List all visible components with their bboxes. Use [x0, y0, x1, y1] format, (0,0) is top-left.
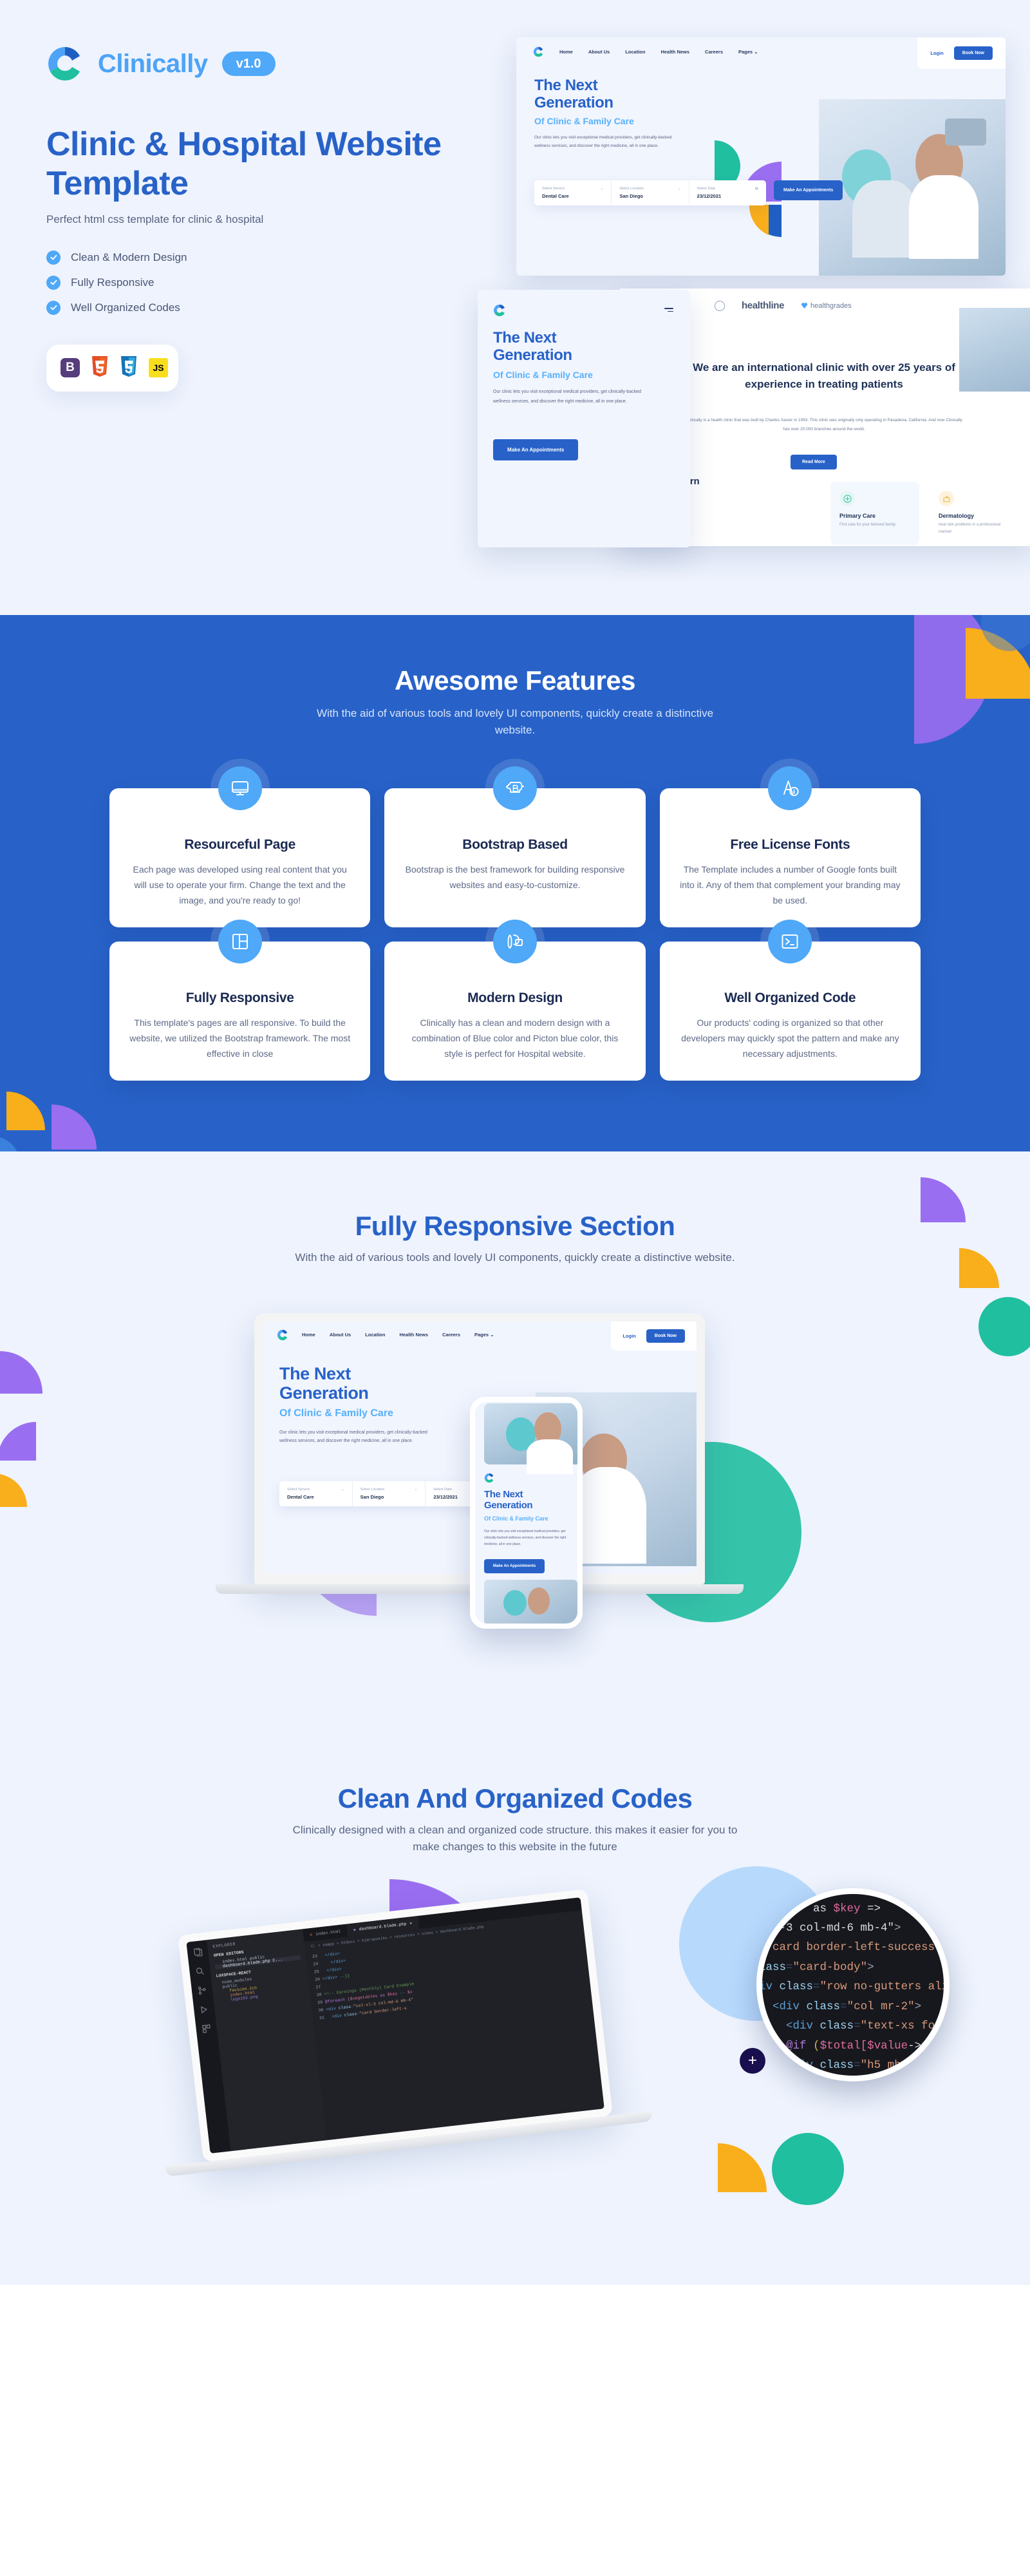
feature-card-free-license-fonts[interactable]: Free License Fonts The Template includes…	[660, 788, 921, 927]
chevron-down-icon: ⌄	[490, 1332, 494, 1338]
features-grid: Resourceful Page Each page was developed…	[109, 788, 921, 1081]
mockup-appointment-form: Select Service⌄ Dental Care Select Locat…	[279, 1481, 498, 1506]
feature-card-title: Modern Design	[402, 990, 627, 1006]
responsive-title: Fully Responsive Section	[0, 1211, 1030, 1242]
feature-card-text: The Template includes a number of Google…	[678, 862, 903, 908]
mockup-select-location[interactable]: Select Location⌄ San Diego	[353, 1481, 426, 1506]
mockup-intl-paragraph: Clinically is a health clinic that was b…	[682, 416, 966, 433]
mockup-paragraph: Our clinic lets you visit exceptional me…	[279, 1428, 440, 1446]
check-icon	[46, 251, 61, 265]
bootstrap-badge-icon: B	[61, 358, 80, 377]
code-subtitle: Clinically designed with a clean and org…	[290, 1822, 740, 1856]
code-title: Clean And Organized Codes	[0, 1783, 1030, 1814]
mockup-nav-pages[interactable]: Pages ⌄	[474, 1332, 494, 1338]
mockup-select-date[interactable]: Select Date▤ 23/12/2021	[689, 180, 766, 205]
mockup-nav-location[interactable]: Location	[625, 49, 645, 55]
mockup-service-card-primary-care[interactable]: Primary Care First care for your beloved…	[830, 482, 919, 545]
hero-section: Clinically v1.0 Clinic & Hospital Websit…	[0, 0, 1030, 615]
decorative-shapes-hero	[0, 451, 116, 605]
brand-name: Clinically	[98, 50, 208, 79]
mockup-appointment-form: Select Service⌄ Dental Care Select Locat…	[534, 180, 766, 205]
hero-mockup-group: Home About Us Location Health News Caree…	[502, 0, 1030, 615]
feature-card-title: Bootstrap Based	[402, 837, 627, 853]
vscode-editor: ◇index.html ◆dashboard.blade.php✕ C: > x…	[303, 1897, 604, 2140]
feature-card-modern-design[interactable]: Modern Design Clinically has a clean and…	[384, 942, 645, 1081]
feature-card-text: Clinically has a clean and modern design…	[402, 1015, 627, 1061]
list-item-label: Well Organized Codes	[71, 301, 180, 314]
calendar-icon: ▤	[755, 187, 758, 191]
feature-card-title: Resourceful Page	[127, 837, 352, 853]
monitor-icon	[218, 766, 262, 810]
mockup-make-appointment-button[interactable]: Make An Appointments	[484, 1559, 545, 1573]
features-title: Awesome Features	[0, 665, 1030, 696]
mockup-book-now-button[interactable]: Book Now	[954, 46, 993, 60]
mockup-heading: The NextGeneration	[279, 1364, 369, 1403]
mockup-nav-about-us[interactable]: About Us	[588, 49, 610, 55]
healthgrades-logo: healthgrades	[801, 302, 852, 310]
list-item: Well Organized Codes	[46, 301, 510, 315]
mockup-intl-heading: We are an international clinic with over…	[663, 359, 985, 392]
list-item: Clean & Modern Design	[46, 251, 510, 265]
chevron-down-icon: ⌄	[415, 1488, 418, 1492]
mockup-subheading: Of Clinic & Family Care	[534, 116, 634, 126]
feature-card-resourceful-page[interactable]: Resourceful Page Each page was developed…	[109, 788, 370, 927]
laptop-mockup-nav-actions: Login Book Now	[611, 1321, 697, 1350]
mockup-make-appointment-button[interactable]: Make An Appointments	[493, 439, 578, 460]
feature-check-list: Clean & Modern Design Fully Responsive W…	[46, 251, 510, 315]
feature-card-fully-responsive[interactable]: Fully Responsive This template's pages a…	[109, 942, 370, 1081]
mockup-subheading: Of Clinic & Family Care	[484, 1515, 548, 1522]
mockup-make-appointment-button[interactable]: Make An Appointments	[774, 180, 843, 200]
vscode-window: EXPLORER OPEN EDITORS index.html public …	[186, 1897, 604, 2154]
page-title: Clinic & Hospital Website Template	[46, 125, 510, 204]
mockup-select-service[interactable]: Select Service⌄ Dental Care	[279, 1481, 353, 1506]
decorative-shapes-responsive-left	[0, 1345, 142, 1577]
feature-card-text: This template's pages are all responsive…	[127, 1015, 352, 1061]
chevron-down-icon: ⌄	[678, 187, 681, 191]
page-subtitle: Perfect html css template for clinic & h…	[46, 213, 510, 226]
files-icon[interactable]	[192, 1947, 202, 1956]
decorative-shapes-responsive-right	[882, 1177, 1030, 1370]
chevron-down-icon: ⌄	[601, 187, 604, 191]
chevron-down-icon: ⌄	[754, 49, 758, 55]
mockup-about-photo	[959, 308, 1030, 392]
html-file-icon: ◇	[310, 1931, 313, 1937]
magnified-code: as $key => l-3 col-md-6 mb-4"> ="card bo…	[756, 1899, 950, 2081]
feature-card-title: Fully Responsive	[127, 990, 352, 1006]
hero-content: Clinically v1.0 Clinic & Hospital Websit…	[46, 45, 510, 392]
mockup-paragraph: Our clinic lets you visit exceptional me…	[493, 388, 654, 406]
version-badge: v1.0	[222, 52, 276, 76]
feature-card-bootstrap-based[interactable]: Bootstrap Based Bootstrap is the best fr…	[384, 788, 645, 927]
tech-stack-card: B JS	[46, 345, 178, 392]
mockup-nav-health-news[interactable]: Health News	[660, 49, 689, 55]
feature-card-text: Bootstrap is the best framework for buil…	[402, 862, 627, 893]
device-mockup-stage: Home About Us Location Health News Caree…	[145, 1300, 885, 1700]
list-item-label: Clean & Modern Design	[71, 251, 187, 264]
clinically-logo-icon	[46, 45, 84, 82]
features-section: Awesome Features With the aid of various…	[0, 615, 1030, 1151]
list-item-label: Fully Responsive	[71, 276, 154, 289]
mockup-nav-actions: Login Book Now	[917, 37, 1006, 69]
code-section: Clean And Organized Codes Clinically des…	[0, 1777, 1030, 2285]
check-icon	[46, 276, 61, 290]
design-pen-icon	[493, 920, 537, 963]
mockup-desktop-home: Home About Us Location Health News Caree…	[516, 37, 1006, 276]
mockup-logo-icon	[484, 1473, 494, 1483]
html5-badge-icon	[91, 356, 109, 380]
skin-icon	[939, 491, 954, 506]
mockup-paragraph: Our clinic lets you visit exceptional me…	[484, 1528, 574, 1548]
phone-mockup-photo	[484, 1403, 577, 1464]
feature-card-title: Free License Fonts	[678, 837, 903, 853]
extensions-icon[interactable]	[201, 2023, 211, 2033]
code-mockup-stage: EXPLORER OPEN EDITORS index.html public …	[113, 1886, 917, 2246]
features-subtitle: With the aid of various tools and lovely…	[306, 705, 724, 738]
bootstrap-icon	[493, 766, 537, 810]
mockup-logo-icon	[277, 1329, 288, 1340]
code-magnifier: as $key => l-3 col-md-6 mb-4"> ="card bo…	[756, 1888, 950, 2081]
mockup-select-location[interactable]: Select Location⌄ San Diego	[612, 180, 689, 205]
zoom-in-icon[interactable]: +	[740, 2048, 765, 2074]
feature-card-text: Each page was developed using real conte…	[127, 862, 352, 908]
un-logo-icon	[715, 301, 725, 311]
phone-mockup: The NextGeneration Of Clinic & Family Ca…	[470, 1397, 583, 1629]
layout-icon	[218, 920, 262, 963]
mockup-nav-health-news[interactable]: Health News	[399, 1332, 428, 1338]
mockup-login-link[interactable]: Login	[623, 1333, 635, 1339]
list-item: Fully Responsive	[46, 276, 510, 290]
healthline-logo: healthline	[742, 300, 784, 311]
css3-badge-icon	[120, 356, 138, 380]
mockup-nav-location[interactable]: Location	[365, 1332, 385, 1338]
mockup-nav-careers[interactable]: Careers	[705, 49, 723, 55]
mockup-heading: The NextGeneration	[534, 77, 613, 112]
javascript-badge-icon: JS	[149, 358, 168, 377]
mockup-login-link[interactable]: Login	[930, 50, 943, 56]
mockup-hero-photo	[819, 99, 1006, 276]
font-info-icon	[768, 766, 812, 810]
plus-circle-icon	[839, 491, 855, 506]
responsive-subtitle: With the aid of various tools and lovely…	[290, 1249, 740, 1266]
mockup-service-cards: Primary Care First care for your beloved…	[830, 482, 1018, 545]
check-icon	[46, 301, 61, 315]
mockup-book-now-button[interactable]: Book Now	[646, 1329, 685, 1343]
mockup-nav-about-us[interactable]: About Us	[330, 1332, 351, 1338]
mockup-select-service[interactable]: Select Service⌄ Dental Care	[534, 180, 612, 205]
php-file-icon: ◆	[353, 1927, 356, 1932]
mockup-subheading: Of Clinic & Family Care	[279, 1408, 393, 1419]
landing-page: Clinically v1.0 Clinic & Hospital Websit…	[0, 0, 1030, 2285]
feature-card-text: Our products' coding is organized so tha…	[678, 1015, 903, 1061]
mockup-nav-careers[interactable]: Careers	[442, 1332, 460, 1338]
responsive-section: Fully Responsive Section With the aid of…	[0, 1151, 1030, 1776]
mockup-heading: The NextGeneration	[484, 1490, 532, 1511]
mockup-logo-icon	[533, 46, 544, 57]
run-debug-icon[interactable]	[200, 2004, 209, 2014]
brand-row: Clinically v1.0	[46, 45, 510, 82]
phone-mockup-photo-secondary	[484, 1580, 577, 1624]
feature-card-well-organized-code[interactable]: Well Organized Code Our products' coding…	[660, 942, 921, 1081]
source-control-icon[interactable]	[197, 1985, 207, 1994]
mockup-paragraph: Our clinic lets you visit exceptional me…	[534, 134, 673, 150]
terminal-icon	[768, 920, 812, 963]
chevron-down-icon: ⌄	[341, 1488, 344, 1492]
feature-card-title: Well Organized Code	[678, 990, 903, 1006]
mockup-nav-home[interactable]: Home	[559, 49, 573, 55]
heart-icon	[801, 302, 808, 309]
close-icon[interactable]: ✕	[409, 1920, 413, 1926]
mockup-read-more-button[interactable]: Read More	[791, 455, 837, 469]
mockup-partners-row: healthline healthgrades	[715, 300, 852, 311]
search-icon[interactable]	[195, 1966, 205, 1976]
laptop-code-mockup: EXPLORER OPEN EDITORS index.html public …	[178, 1888, 614, 2172]
mockup-service-card-dermatology[interactable]: Dermatology treat skin problems in a pro…	[930, 482, 1018, 545]
mockup-nav-pages[interactable]: Pages ⌄	[738, 49, 758, 55]
mockup-nav-home[interactable]: Home	[302, 1332, 315, 1338]
hamburger-menu-icon[interactable]	[664, 308, 673, 314]
